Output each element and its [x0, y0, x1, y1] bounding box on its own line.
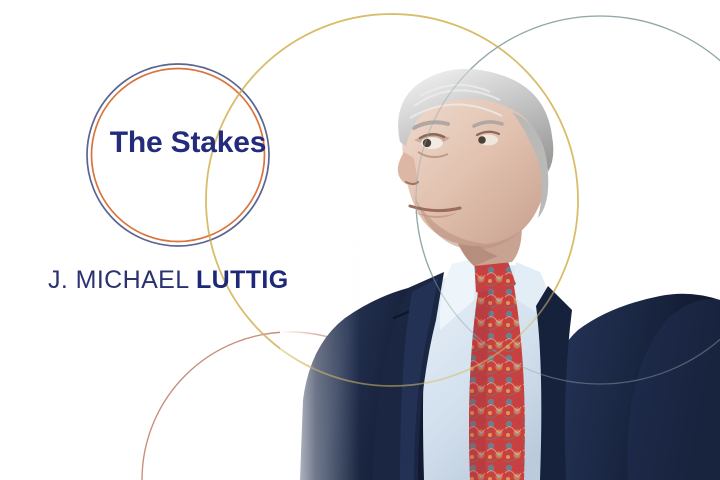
decorative-rings-front-layer	[0, 0, 720, 480]
teal-upper-right-arc-front-icon	[416, 16, 720, 384]
amber-large-arc-front-icon	[206, 14, 578, 386]
opinion-column-card: The Stakes J. MICHAEL LUTTIG	[0, 0, 720, 480]
